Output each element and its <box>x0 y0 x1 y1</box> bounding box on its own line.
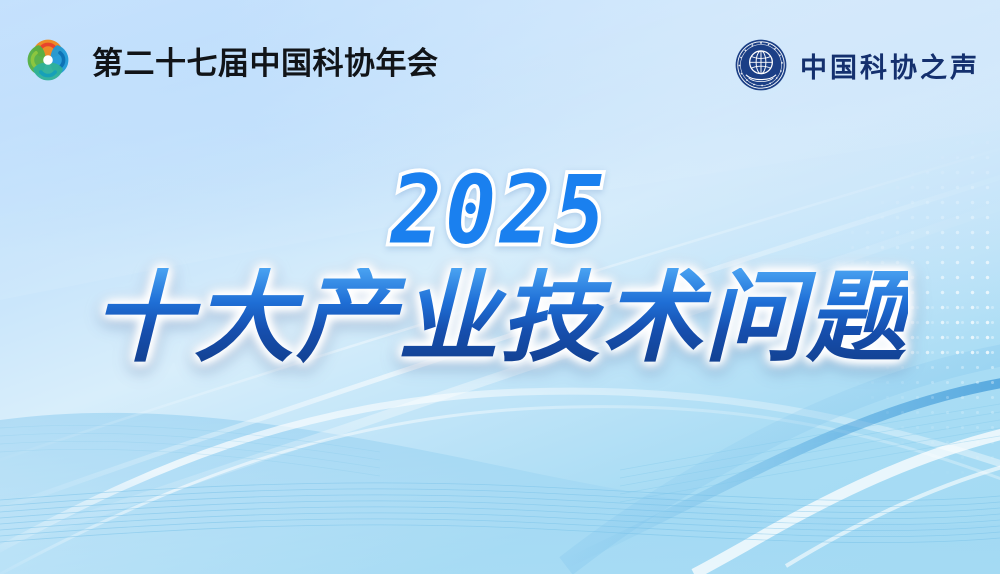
annual-meeting-brand: 第二十七届中国科协年会 <box>18 30 439 90</box>
annual-meeting-petal-logo-icon <box>18 30 78 90</box>
year-title: 2025 <box>391 163 609 257</box>
main-headline: 十大产业技术问题 <box>92 268 908 368</box>
annual-meeting-title: 第二十七届中国科协年会 <box>92 38 439 83</box>
cast-voice-title: 中国科协之声 <box>800 46 980 85</box>
cast-globe-seal-icon <box>734 38 788 92</box>
poster-title-block: 2025 十大产业技术问题 <box>0 168 1000 368</box>
poster-header: 第二十七届中国科协年会 <box>0 0 1000 130</box>
cast-voice-brand: 中国科协之声 <box>734 38 980 92</box>
poster-canvas: 第二十七届中国科协年会 <box>0 0 1000 574</box>
